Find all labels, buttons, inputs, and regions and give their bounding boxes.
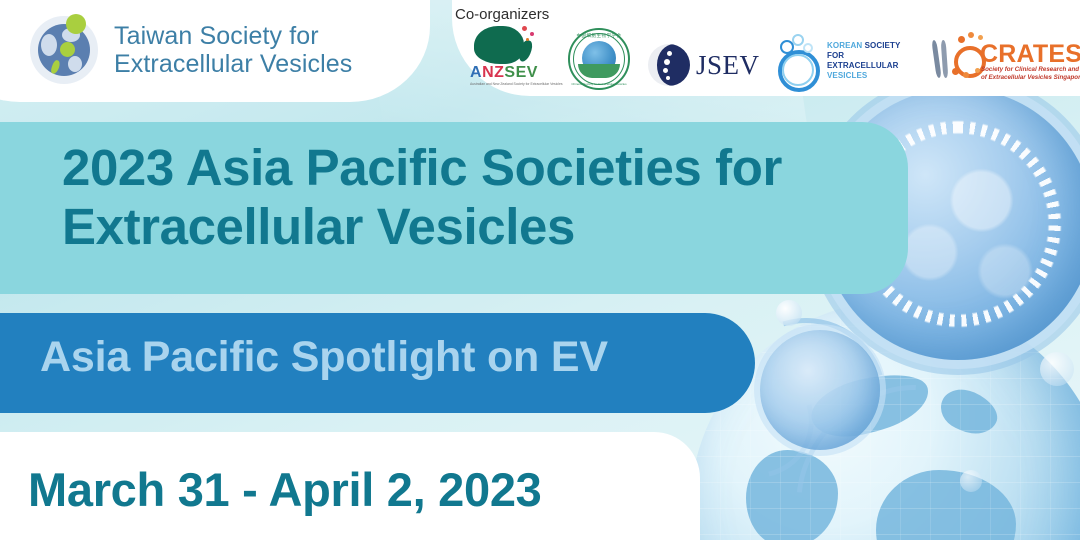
socrates-wordmark: CRATES [980, 40, 1080, 69]
bubble-rings-icon [776, 34, 822, 88]
bubble-icon [776, 300, 802, 326]
conference-banner: Taiwan Society for Extracellular Vesicle… [0, 0, 1080, 540]
host-society-name-line1: Taiwan Society for [114, 22, 352, 50]
host-society-logo: Taiwan Society for Extracellular Vesicle… [30, 16, 352, 84]
socrates-tagline: Society for Clinical Research and Transl… [981, 66, 1080, 83]
bubble-icon [960, 470, 982, 492]
globe-with-vesicles-icon [30, 16, 98, 84]
australia-new-zealand-map-icon [474, 26, 524, 64]
bubble-icon [1040, 352, 1074, 386]
co-organizer-logo-socrates: CRATES Society for Clinical Research and… [934, 32, 1080, 90]
page-title: 2023 Asia Pacific Societies for Extracel… [62, 138, 892, 256]
co-organizer-logos: ANZSEV Australian and New Zealand Societ… [470, 24, 1080, 90]
host-society-name-line2: Extracellular Vesicles [114, 50, 352, 78]
csev-name-cn: 中国细胞生物学学会 [568, 33, 630, 39]
co-organizer-logo-csev: 中国细胞生物学学会 Chinese Society for Extracellu… [568, 28, 630, 90]
spotlight-title: Asia Pacific Spotlight on EV [40, 333, 608, 382]
jsev-wordmark: JSEV [696, 50, 760, 81]
event-dates: March 31 - April 2, 2023 [28, 462, 542, 517]
anzsev-wordmark: ANZSEV [470, 64, 538, 82]
page-title-line1: 2023 Asia Pacific Societies for [62, 138, 892, 197]
anzsev-tagline: Australian and New Zealand Society for E… [470, 82, 563, 86]
ksev-wordmark: KOREAN SOCIETY FOR EXTRACELLULAR VESICLE… [827, 41, 916, 82]
host-society-name: Taiwan Society for Extracellular Vesicle… [114, 22, 352, 78]
co-organizer-logo-jsev: JSEV [648, 40, 758, 90]
crescent-vesicle-icon [648, 44, 690, 86]
csev-name-en: Chinese Society for Extracellular Vesicl… [568, 82, 630, 86]
co-organizer-logo-anzsev: ANZSEV Australian and New Zealand Societ… [470, 24, 550, 90]
page-title-line2: Extracellular Vesicles [62, 197, 892, 256]
co-organizer-logo-ksev: KOREAN SOCIETY FOR EXTRACELLULAR VESICLE… [776, 32, 916, 90]
co-organizers-label: Co-organizers [455, 6, 549, 23]
small-vesicle-graphic [760, 330, 880, 450]
